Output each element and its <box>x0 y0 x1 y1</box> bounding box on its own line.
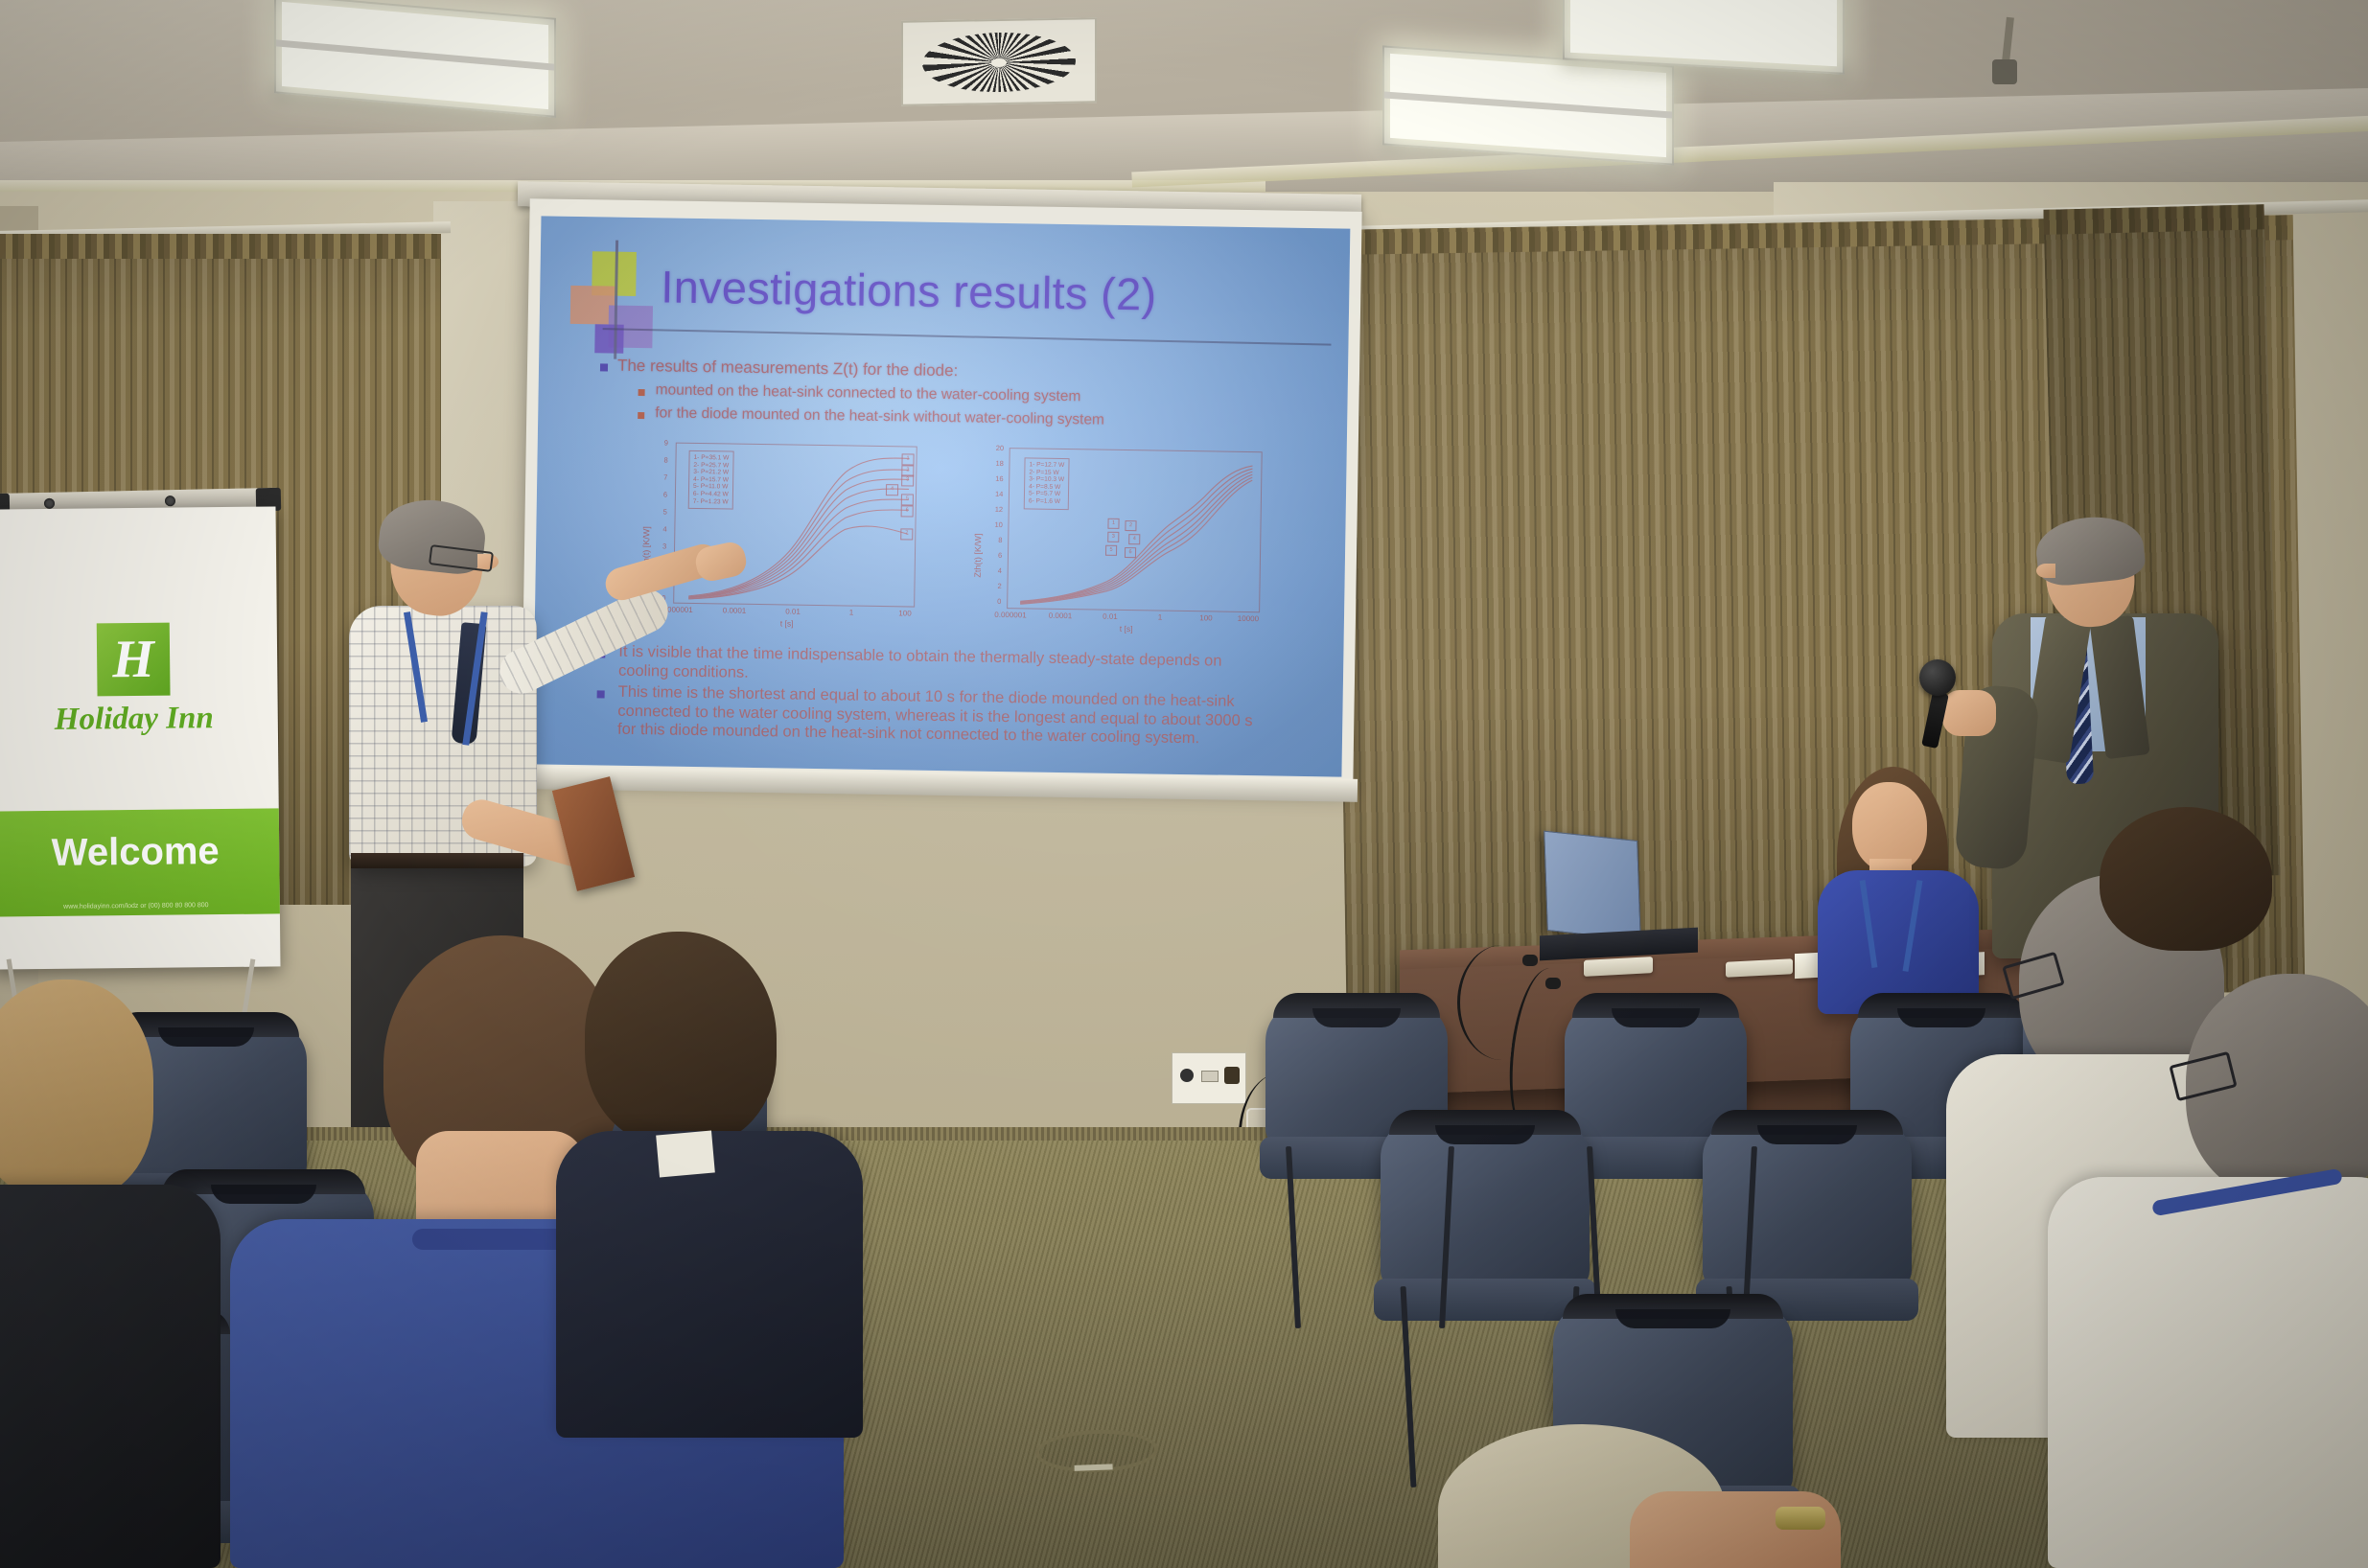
holiday-inn-brand-name: Holiday Inn <box>0 700 278 738</box>
audience-brownhair-body <box>556 1131 863 1438</box>
audience-blonde-body <box>0 1185 221 1568</box>
chart-left-xtick-4: 100 <box>898 609 911 617</box>
chart-left-curve-label-7: 7 <box>900 528 913 540</box>
chart-right-ytick-6: 12 <box>995 505 1003 514</box>
ceiling-vent-icon <box>901 17 1097 106</box>
presenter-folder <box>552 776 635 891</box>
chart-right-curve-label-4: 4 <box>1128 534 1140 544</box>
conference-room-photo: Investigations results (2) The results o… <box>0 0 2368 1568</box>
chart-left-ytick-7: 7 <box>663 473 667 481</box>
chart-right-ytick-4: 8 <box>998 536 1002 544</box>
chart-right-xtick-4: 100 <box>1199 613 1212 622</box>
welcome-text: Welcome <box>0 829 279 875</box>
chart-left-xtick-1: 0.0001 <box>723 606 747 614</box>
chair-row2-2[interactable] <box>1703 1119 1912 1288</box>
flipchart-banner: H Holiday Inn Welcome www.holidayinn.com… <box>0 508 278 968</box>
audience-blonde-head <box>0 980 153 1200</box>
chart-left-ytick-3: 3 <box>662 542 666 550</box>
chart-left-curve-label-6: 6 <box>901 505 914 517</box>
audience-back-head <box>2100 807 2272 951</box>
chart-right-ytick-3: 6 <box>998 551 1002 560</box>
chart-left-xtick-3: 1 <box>849 609 854 617</box>
banner-sheet: H Holiday Inn Welcome www.holidayinn.com… <box>0 506 281 969</box>
chart-right: Zth(t) [K/W] t [s] 20 18 16 14 12 10 8 6… <box>955 441 1284 637</box>
ceiling-mount-bracket <box>1992 59 2017 84</box>
chart-right-xtick-2: 0.01 <box>1103 612 1118 621</box>
audience-grayfront-body <box>2048 1177 2368 1568</box>
welcome-band: Welcome www.holidayinn.com/lodz or (00) … <box>0 808 280 916</box>
banner-url-text: www.holidayinn.com/lodz or (00) 800 80 8… <box>0 901 280 911</box>
laptop-screen <box>1544 831 1641 941</box>
chart-right-curve-label-3: 3 <box>1107 532 1119 542</box>
slide-title: Investigations results (2) <box>661 260 1157 320</box>
presentation-slide: Investigations results (2) The results o… <box>532 216 1350 776</box>
chart-right-ytick-7: 14 <box>995 490 1003 498</box>
chart-right-ytick-0: 0 <box>997 597 1001 606</box>
cable-ferrite-1 <box>1522 955 1538 966</box>
chart-right-ytick-2: 4 <box>998 566 1002 575</box>
chart-right-xtick-3: 1 <box>1158 613 1163 622</box>
chart-right-xlabel: t [s] <box>1120 624 1133 634</box>
slide-sub-bullet-0: mounted on the heat-sink connected to th… <box>655 381 1080 405</box>
chart-right-curve-label-6: 6 <box>1125 547 1136 558</box>
chart-right-ytick-5: 10 <box>994 520 1002 529</box>
chart-left-ytick-8: 8 <box>663 455 667 464</box>
bullet-square-2 <box>638 412 644 419</box>
chart-right-ytick-9: 18 <box>995 459 1003 468</box>
chart-left-ytick-9: 9 <box>664 438 668 447</box>
slide-intro-bullet: The results of measurements Z(t) for the… <box>617 357 959 381</box>
av-wall-plate[interactable] <box>1172 1052 1246 1104</box>
chart-left: Zth(t) [K/W] t [s] 9 8 7 6 5 4 3 2 1 0 0… <box>627 436 937 633</box>
audience-brownhair-head <box>585 932 777 1146</box>
chart-right-curve-label-2: 2 <box>1125 520 1136 531</box>
chart-left-xtick-2: 0.01 <box>785 607 801 615</box>
chart-right-xtick-0: 0.000001 <box>994 611 1027 620</box>
slide-conclusion-0: It is visible that the time indispensabl… <box>618 643 1271 691</box>
presenter-belt <box>351 853 523 868</box>
holiday-inn-logo-letter: H <box>112 633 154 686</box>
bullet-square-0 <box>600 363 608 371</box>
chart-left-ytick-6: 6 <box>663 490 667 498</box>
chart-left-xlabel: t [s] <box>780 618 794 628</box>
chart-right-xtick-1: 0.0001 <box>1049 611 1073 620</box>
chart-right-curve-label-1: 1 <box>1107 519 1119 529</box>
chart-right-ylabel: Zth(t) [K/W] <box>973 534 984 578</box>
chart-right-curve-label-5: 5 <box>1105 545 1117 556</box>
projection-screen: Investigations results (2) The results o… <box>521 198 1361 787</box>
wristwatch-icon <box>1776 1507 1825 1530</box>
audience-hand <box>1630 1491 1841 1568</box>
ceiling-light-2 <box>1382 45 1674 165</box>
slide-title-rule <box>603 328 1332 346</box>
slide-conclusion-1: This time is the shortest and equal to a… <box>617 683 1270 749</box>
chart-left-curve-label-3: 3 <box>901 474 914 486</box>
chart-right-ytick-8: 16 <box>995 474 1003 483</box>
slide-sub-bullet-1: for the diode mounted on the heat-sink w… <box>655 404 1104 428</box>
microphone-icon <box>1919 659 1956 696</box>
cable-ferrite-2 <box>1545 978 1561 989</box>
chart-right-ytick-10: 20 <box>996 444 1004 452</box>
audience-brownhair-collar <box>656 1131 715 1178</box>
micman-nose <box>2036 564 2055 578</box>
bullet-square-1 <box>638 389 645 396</box>
chart-left-ytick-5: 5 <box>663 507 667 516</box>
chart-left-ytick-4: 4 <box>662 524 666 533</box>
chair-row2-1[interactable] <box>1381 1119 1590 1288</box>
chart-right-xtick-5: 10000 <box>1238 614 1259 623</box>
chart-left-curve-label-1: 1 <box>901 453 914 465</box>
chart-left-curve-label-4: 4 <box>886 484 898 496</box>
chart-right-ytick-1: 2 <box>997 582 1001 590</box>
holiday-inn-logo-icon: H <box>97 623 171 697</box>
chart-left-curve-label-5: 5 <box>901 494 914 505</box>
micman-hand <box>1942 690 1996 736</box>
